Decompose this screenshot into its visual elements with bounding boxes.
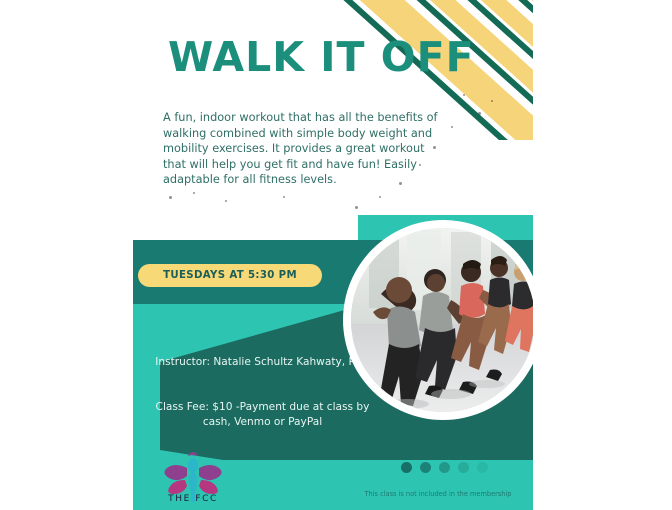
membership-footnote: This class is not included in the member…	[348, 490, 528, 498]
schedule-pill-label: TUESDAYS AT 5:30 PM	[163, 270, 297, 281]
event-flyer: WALK IT OFF A fun, indoor workout that h…	[133, 0, 533, 510]
page-dot-5[interactable]	[477, 462, 488, 473]
page-dot-4[interactable]	[458, 462, 469, 473]
page-title: WALK IT OFF	[168, 33, 475, 81]
page-dot-1[interactable]	[401, 462, 412, 473]
page-dot-3[interactable]	[439, 462, 450, 473]
speckle-dot	[193, 192, 195, 194]
instructor-text: Instructor: Natalie Schultz Kahwaty, PhD	[155, 355, 370, 370]
speckle-dot	[283, 196, 285, 198]
speckle-dot	[478, 112, 481, 115]
intro-paragraph: A fun, indoor workout that has all the b…	[163, 110, 448, 188]
page-dots[interactable]	[401, 462, 488, 473]
speckle-dot	[451, 126, 453, 128]
class-photo	[351, 228, 533, 412]
white-notch-block	[133, 215, 358, 240]
speckle-dot	[225, 200, 227, 202]
class-fee-text: Class Fee: $10 -Payment due at class by …	[155, 400, 370, 430]
logo-label: THE FCC	[147, 494, 239, 504]
schedule-pill: TUESDAYS AT 5:30 PM	[138, 264, 322, 287]
speckle-dot	[463, 94, 465, 96]
speckle-dot	[355, 206, 358, 209]
page-dot-2[interactable]	[420, 462, 431, 473]
speckle-dot	[491, 100, 493, 102]
speckle-dot	[169, 196, 172, 199]
screenshot-canvas: WALK IT OFF A fun, indoor workout that h…	[0, 0, 672, 510]
speckle-dot	[379, 196, 381, 198]
